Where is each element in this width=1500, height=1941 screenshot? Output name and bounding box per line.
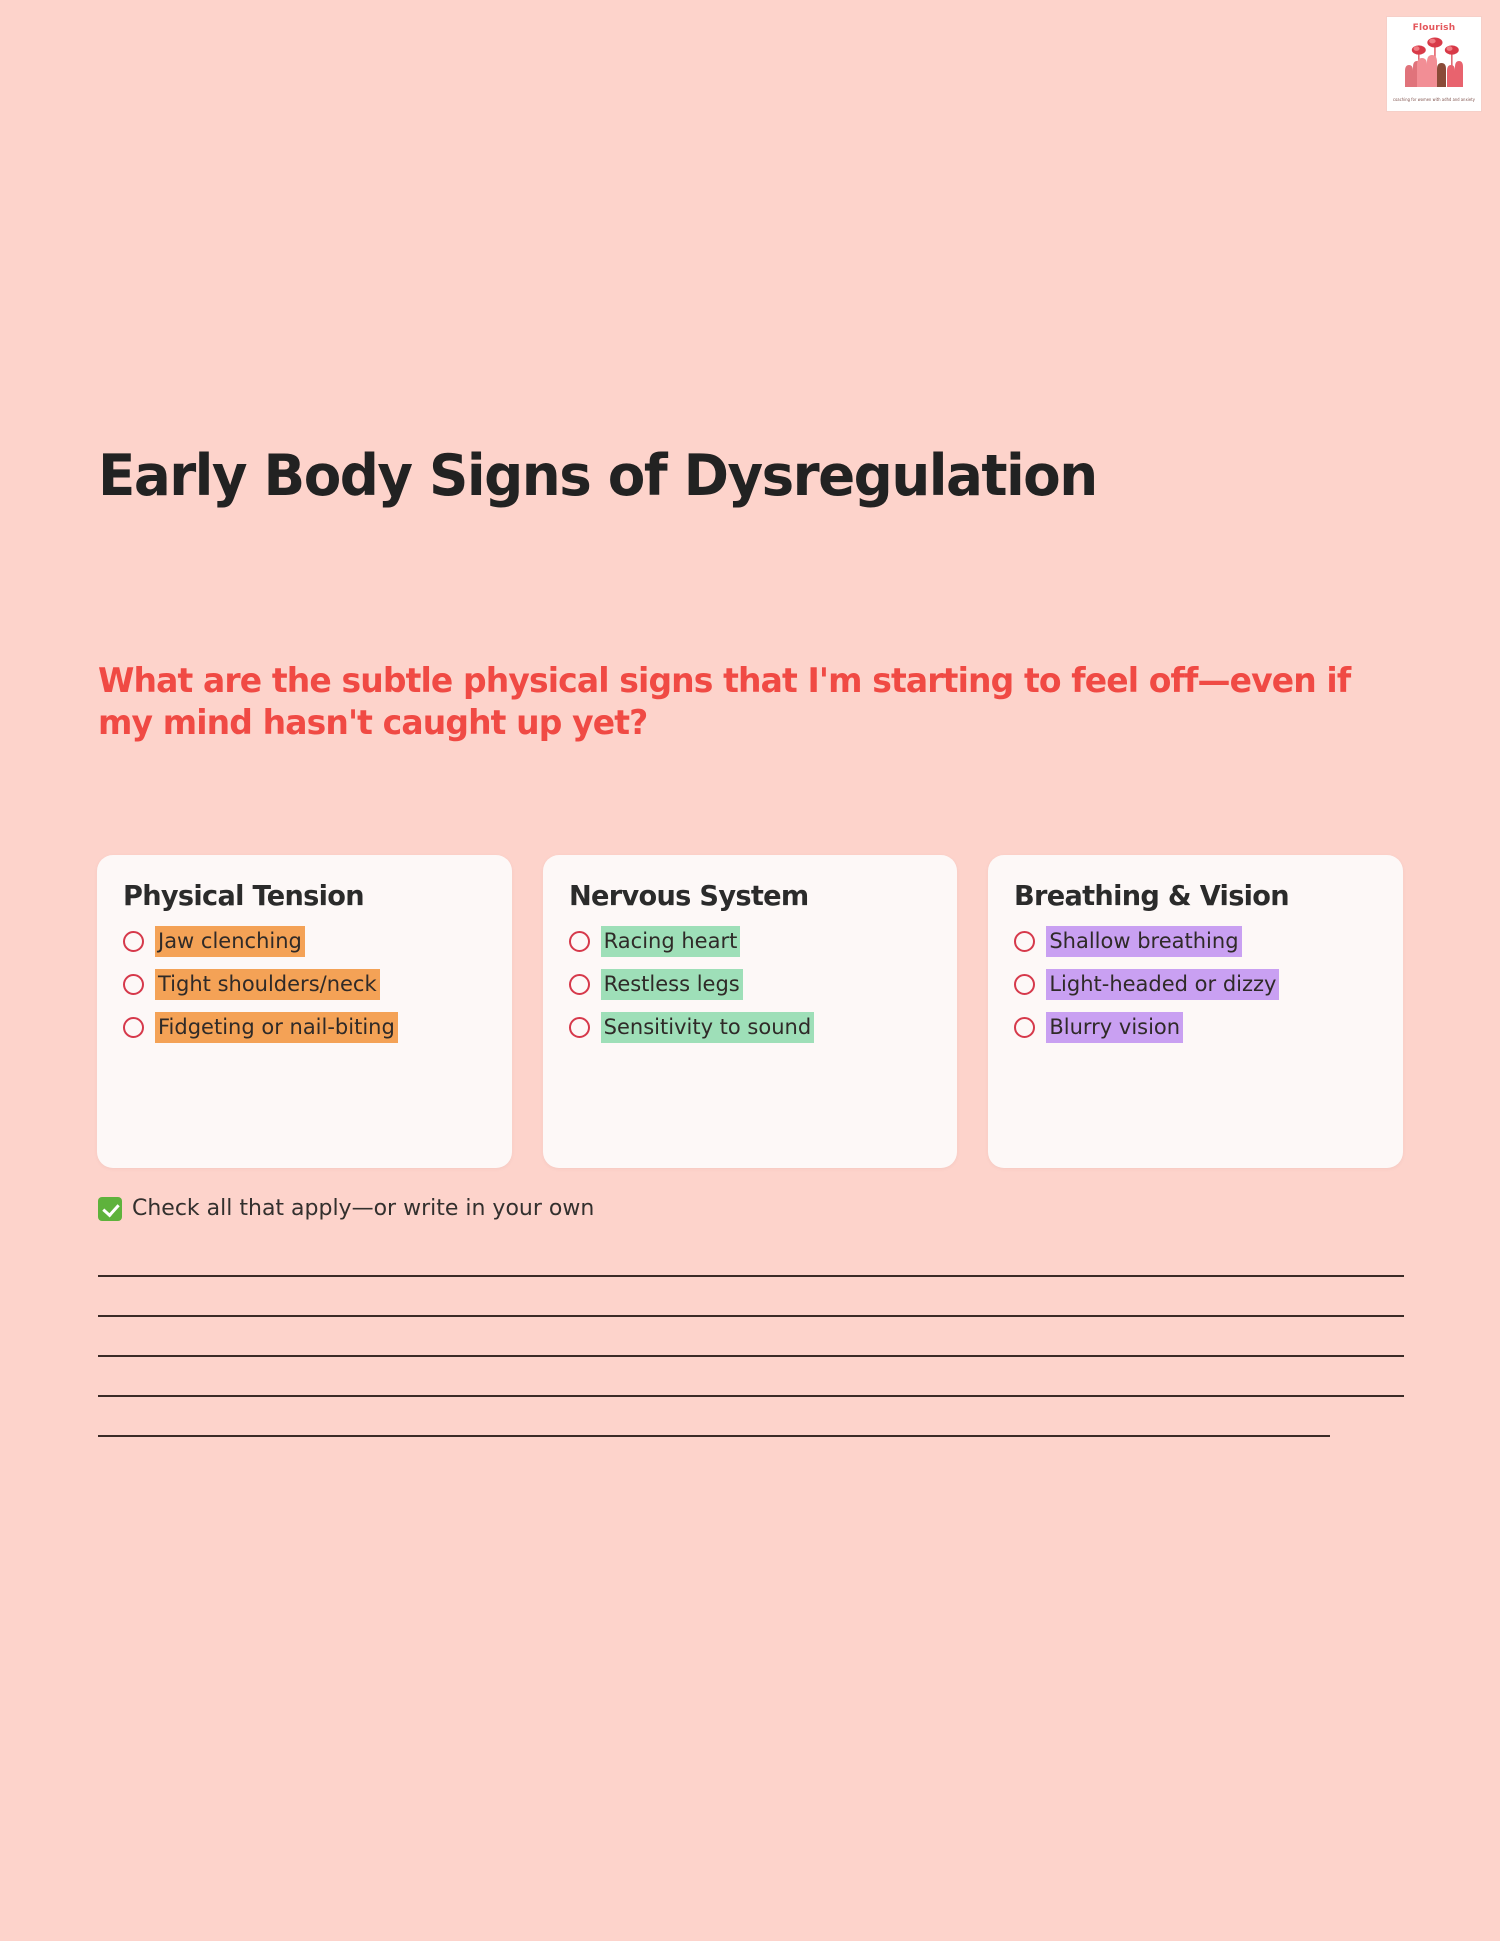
brand-logo: Flourish (1386, 16, 1482, 112)
list-item[interactable]: Sensitivity to sound (569, 1011, 932, 1045)
card-title: Breathing & Vision (1014, 879, 1366, 913)
page-title: Early Body Signs of Dysregulation (98, 443, 1116, 510)
list-item-label: Jaw clenching (155, 926, 305, 957)
list-item[interactable]: Fidgeting or nail-biting (123, 1011, 486, 1045)
list-item[interactable]: Tight shoulders/neck (123, 968, 486, 1002)
brand-logo-tagline: coaching for women with adhd and anxiety (1387, 98, 1481, 103)
radio-circle-icon[interactable] (569, 974, 590, 995)
card-title: Nervous System (569, 879, 921, 913)
page-subtitle: What are the subtle physical signs that … (98, 661, 1398, 745)
list-item-label: Restless legs (601, 969, 743, 1000)
instruction-note: Check all that apply—or write in your ow… (98, 1196, 594, 1221)
radio-circle-icon[interactable] (569, 931, 590, 952)
list-item[interactable]: Jaw clenching (123, 925, 486, 959)
write-in-line[interactable] (98, 1395, 1404, 1397)
radio-circle-icon[interactable] (1014, 1017, 1035, 1038)
radio-circle-icon[interactable] (569, 1017, 590, 1038)
list-item-label: Light-headed or dizzy (1046, 969, 1279, 1000)
radio-circle-icon[interactable] (1014, 931, 1035, 952)
radio-circle-icon[interactable] (123, 931, 144, 952)
checkbox-list: Jaw clenching Tight shoulders/neck Fidge… (123, 925, 486, 1054)
list-item-label: Fidgeting or nail-biting (155, 1012, 398, 1043)
list-item-label: Shallow breathing (1046, 926, 1241, 957)
card-title: Physical Tension (123, 879, 475, 913)
list-item[interactable]: Blurry vision (1014, 1011, 1377, 1045)
radio-circle-icon[interactable] (1014, 974, 1035, 995)
brand-logo-name: Flourish (1413, 24, 1456, 33)
category-card-nervous-system: Nervous System Racing heart Restless leg… (543, 855, 958, 1168)
write-in-line[interactable] (98, 1435, 1330, 1437)
list-item[interactable]: Restless legs (569, 968, 932, 1002)
write-in-line[interactable] (98, 1355, 1404, 1357)
checkbox-list: Shallow breathing Light-headed or dizzy … (1014, 925, 1377, 1054)
write-in-line[interactable] (98, 1315, 1404, 1317)
category-card-breathing-vision: Breathing & Vision Shallow breathing Lig… (988, 855, 1403, 1168)
radio-circle-icon[interactable] (123, 1017, 144, 1038)
write-in-line[interactable] (98, 1275, 1404, 1277)
list-item[interactable]: Light-headed or dizzy (1014, 968, 1377, 1002)
list-item-label: Sensitivity to sound (601, 1012, 815, 1043)
hands-holding-flowers-icon (1397, 35, 1471, 92)
radio-circle-icon[interactable] (123, 974, 144, 995)
list-item-label: Tight shoulders/neck (155, 969, 380, 1000)
list-item-label: Blurry vision (1046, 1012, 1183, 1043)
write-in-lines (98, 1275, 1404, 1475)
worksheet-page: Flourish (0, 0, 1500, 1941)
white-heavy-check-mark-icon (98, 1197, 122, 1221)
checkbox-list: Racing heart Restless legs Sensitivity t… (569, 925, 932, 1054)
list-item-label: Racing heart (601, 926, 741, 957)
instruction-note-text: Check all that apply—or write in your ow… (132, 1196, 594, 1221)
category-card-physical-tension: Physical Tension Jaw clenching Tight sho… (97, 855, 512, 1168)
list-item[interactable]: Racing heart (569, 925, 932, 959)
list-item[interactable]: Shallow breathing (1014, 925, 1377, 959)
category-card-row: Physical Tension Jaw clenching Tight sho… (97, 855, 1403, 1168)
